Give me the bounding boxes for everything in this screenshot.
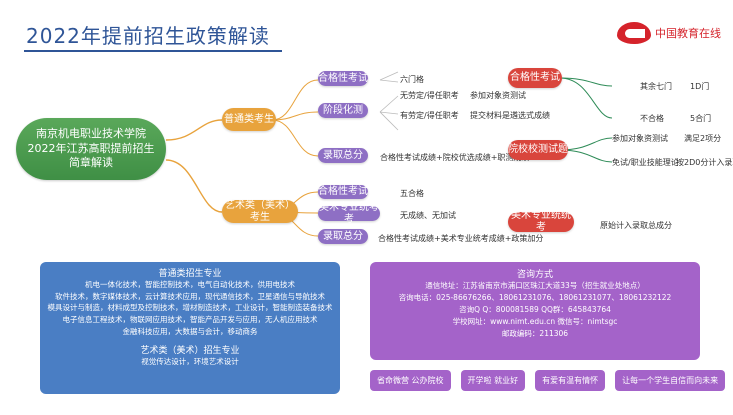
contact-line-2: 咨询电话：025-86676266、18061231076、1806123107… <box>370 292 700 304</box>
node-2-leaf-1: 参加对象资测试 <box>612 133 668 144</box>
sub-luqu-zongfen-1[interactable]: 录取总分 <box>318 148 368 163</box>
panel-majors-heading-2: 艺术类（美术）招生专业 <box>40 337 340 356</box>
branch-putong[interactable]: 普通类考生 <box>222 108 276 131</box>
brand-logo: 中国教育在线 <box>617 22 721 44</box>
leaf-1-1: 六门格 <box>400 74 424 85</box>
sub-hegexing-kaoshi-1[interactable]: 合格性考试 <box>318 71 368 86</box>
node-1-leaf-1: 其余七门 <box>640 81 672 92</box>
panel-majors-body-2: 视觉传达设计，环境艺术设计 <box>40 356 340 368</box>
leaf-2-3: 合格性考试成绩+美术专业统考成绩+政策加分 <box>378 233 543 244</box>
leaf-2-2: 无成绩、无加试 <box>400 210 456 221</box>
eol-icon <box>617 22 651 44</box>
slogan-button-2[interactable]: 开学啦 就业好 <box>461 370 526 391</box>
slogan-button-4[interactable]: 让每一个学生自信而向未来 <box>615 370 725 391</box>
leaf-1-2-b: 有劳定/得任职考 <box>400 110 459 121</box>
sub-meishu-tongkao[interactable]: 美术专业统考考 <box>318 206 380 221</box>
node-2-leaf-2: 免试/职业技能理论 <box>612 157 679 168</box>
leaf-2-1: 五合格 <box>400 188 424 199</box>
node-yuanxiao-ceshi[interactable]: 院校校测试题 <box>508 140 568 160</box>
slogan-button-1[interactable]: 省命微营 公办院校 <box>370 370 451 391</box>
sub-hegexing-kaoshi-2[interactable]: 合格性考试 <box>318 185 368 199</box>
branch-yishu[interactable]: 艺术类（美术）考生 <box>222 200 298 223</box>
leaf-1-2-a: 无劳定/得任职考 <box>400 90 459 101</box>
root-line-3: 简章解读 <box>69 156 113 171</box>
root-line-2: 2022年江苏高职提前招生 <box>28 142 155 157</box>
node-2-value-2: 按2D0分计入录取总分 <box>676 157 733 168</box>
page-title: 2022年提前招生政策解读 <box>26 20 270 49</box>
leaf-1-2-c: 参加对象资测试 <box>470 90 526 101</box>
contact-line-3: 咨询Q Q：800081589 QQ群：645843764 <box>370 304 700 316</box>
mindmap-root: 南京机电职业技术学院 2022年江苏高职提前招生 简章解读 <box>16 118 166 180</box>
node-3-leaf-1: 原始计入录取总成分 <box>600 220 672 231</box>
leaf-1-3: 合格性考试成绩+院校优选成绩+职测成绩 <box>380 152 529 163</box>
panel-majors-body-1: 机电一体化技术，智能控制技术，电气自动化技术，供用电技术 软件技术，数字媒体技术… <box>40 279 340 337</box>
brand-label: 中国教育在线 <box>655 25 721 41</box>
slide-canvas: 2022年提前招生政策解读 中国教育在线 南京机电职业技术学院 2022年江苏高… <box>0 0 733 415</box>
contact-line-4: 学校网址：www.nimt.edu.cn 微信号：nimtsgc <box>370 316 700 328</box>
sub-jieduanhua-ce[interactable]: 阶段化测 <box>318 103 368 118</box>
node-hegexing-kaoshi[interactable]: 合格性考试 <box>508 68 562 88</box>
leaf-1-2-d: 提交材料是遴选式成绩 <box>470 110 550 121</box>
root-line-1: 南京机电职业技术学院 <box>36 127 146 142</box>
contact-line-5: 邮政编码：211306 <box>370 328 700 340</box>
brand-label-text: 中国教育在线 <box>655 27 721 40</box>
panel-majors-heading-1: 普通类招生专业 <box>40 262 340 279</box>
panel-majors: 普通类招生专业 机电一体化技术，智能控制技术，电气自动化技术，供用电技术 软件技… <box>40 262 340 394</box>
node-1-leaf-2: 不合格 <box>640 113 664 124</box>
contact-line-1: 通信地址：江苏省南京市浦口区珠江大道33号（招生就业处地点） <box>370 280 700 292</box>
slogan-button-3[interactable]: 有爱有温有情怀 <box>535 370 605 391</box>
node-meishu-tongkao[interactable]: 美术专业统统考 <box>508 212 574 232</box>
node-2-value-1: 满足2项分 <box>684 133 721 144</box>
slogan-button-row: 省命微营 公办院校 开学啦 就业好 有爱有温有情怀 让每一个学生自信而向未来 <box>370 370 725 391</box>
panel-contact-heading: 咨询方式 <box>370 262 700 280</box>
title-underline <box>24 50 282 52</box>
node-1-value-2: 5合门 <box>690 113 711 124</box>
sub-luqu-zongfen-2[interactable]: 录取总分 <box>318 229 368 244</box>
node-1-value-1: 1D门 <box>690 81 709 92</box>
panel-contact: 咨询方式 通信地址：江苏省南京市浦口区珠江大道33号（招生就业处地点） 咨询电话… <box>370 262 700 360</box>
